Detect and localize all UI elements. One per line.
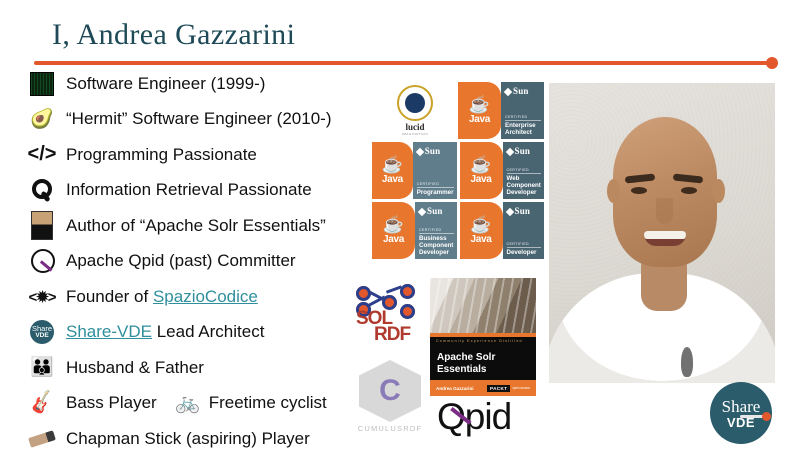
- java-logo-icon: ☕ Java: [458, 82, 501, 139]
- title-end-dot-icon: [766, 57, 778, 69]
- slide-root: I, Andrea Gazzarini Software Engineer (1…: [0, 0, 800, 450]
- sun-logo: Sun: [417, 146, 454, 156]
- list-item-label: Husband & Father: [66, 358, 204, 378]
- sun-certified-badge: ☕ Java Sun CERTIFIED Programmer: [372, 142, 457, 199]
- list-item-label: Apache Qpid (past) Committer: [66, 251, 296, 271]
- sun-certified-badge: ☕ Java Sun CERTIFIED Web Component Devel…: [460, 142, 545, 199]
- tshirt-graphic: [681, 347, 693, 377]
- cert-name: Business Component Developer: [419, 235, 454, 256]
- sun-logo: Sun: [419, 206, 454, 216]
- sun-certified-badge: ☕ Java Sun CERTIFIED Business Component …: [372, 202, 457, 259]
- certification-badge-grid: lucid IMAGINATION ☕ Java Sun CERTIFIED E…: [372, 82, 547, 262]
- cumulusrdf-label: CUMULUSRDF: [348, 424, 432, 433]
- sun-certified-badge: ☕ Java Sun CERTIFIED Developer: [460, 202, 545, 259]
- java-wordmark: Java: [383, 234, 404, 245]
- qpid-logo: Qpid: [437, 398, 537, 444]
- list-item-extra: 🚲 Freetime cyclist: [171, 387, 327, 419]
- cert-name: Developer: [507, 249, 542, 256]
- sun-logo: Sun: [507, 146, 542, 156]
- title-underline: [34, 61, 770, 65]
- solrdf-line2: RDF: [374, 324, 410, 346]
- list-item: Software Engineer (1999-): [22, 66, 372, 102]
- java-logo-icon: ☕ Java: [372, 142, 413, 199]
- book-title: Apache Solr Essentials: [430, 343, 536, 375]
- book-cover-photo: [430, 278, 536, 333]
- cert-name: Programmer: [417, 189, 454, 196]
- page-title: I, Andrea Gazzarini: [52, 18, 295, 52]
- list-item-label: Chapman Stick (aspiring) Player: [66, 429, 310, 449]
- family-icon: 👪: [22, 352, 62, 384]
- spazio-codice-icon: <✹>: [22, 281, 62, 313]
- portrait-photo: [549, 83, 775, 383]
- bass-guitar-icon: 🎸: [19, 383, 66, 424]
- sun-certified-badge: ☕ Java Sun CERTIFIED Enterprise Architec…: [458, 82, 544, 139]
- java-wordmark: Java: [469, 114, 490, 125]
- list-item-label: “Hermit” Software Engineer (2010-): [66, 109, 331, 129]
- cumulusrdf-logo: C CUMULUSRDF: [348, 360, 432, 433]
- sun-logo: Sun: [505, 86, 541, 96]
- share-vde-dot-icon: [762, 412, 771, 421]
- packt-tagline: open source: [512, 386, 530, 390]
- packt-logo: PACKT: [487, 385, 510, 392]
- bicycle-icon: 🚲: [171, 387, 205, 419]
- sun-logo: Sun: [507, 206, 542, 216]
- java-wordmark: Java: [470, 174, 491, 185]
- list-item-label: Lead Architect: [152, 322, 264, 341]
- share-vde-logo: Share VDE: [710, 382, 772, 444]
- book-author: Andrea Gazzarini: [436, 386, 474, 391]
- list-item: Author of “Apache Solr Essentials”: [22, 208, 372, 244]
- list-item: 👪 Husband & Father: [22, 350, 372, 386]
- matrix-screen-icon: [22, 68, 62, 100]
- book-cover-icon: [22, 210, 62, 242]
- badge-row: lucid IMAGINATION ☕ Java Sun CERTIFIED E…: [372, 82, 547, 139]
- book-ribbon-label: Community Experience Distilled: [430, 337, 536, 343]
- share-vde-line1: Share: [722, 398, 761, 415]
- cert-label: CERTIFIED: [507, 168, 542, 174]
- list-item: ShareVDE Share-VDE Lead Architect: [22, 315, 372, 351]
- cert-name: Enterprise Architect: [505, 122, 541, 136]
- list-item: </> Programming Passionate: [22, 137, 372, 173]
- lucid-seal-icon: [397, 85, 433, 121]
- java-logo-icon: ☕ Java: [460, 142, 503, 199]
- cert-label: CERTIFIED: [417, 182, 454, 188]
- cert-name: Web Component Developer: [507, 175, 542, 196]
- cert-label: CERTIFIED: [507, 242, 542, 248]
- cert-label: CERTIFIED: [505, 115, 541, 121]
- solrdf-logo: SOL RDF: [348, 282, 426, 354]
- java-logo-icon: ☕ Java: [372, 202, 415, 259]
- cert-label: CERTIFIED: [419, 228, 454, 234]
- list-item: 🎸 Bass Player 🚲 Freetime cyclist: [22, 386, 372, 422]
- badge-row: ☕ Java Sun CERTIFIED Programmer ☕ Java: [372, 142, 547, 199]
- spaziocodice-link[interactable]: SpazioCodice: [153, 287, 258, 306]
- list-item-label: Software Engineer (1999-): [66, 74, 265, 94]
- lucid-certified-developer-badge: lucid IMAGINATION: [372, 82, 458, 139]
- book-publisher: PACKT open source: [487, 385, 530, 392]
- lucid-brand-label: lucid: [405, 122, 424, 132]
- qpid-q-icon: [22, 245, 62, 277]
- list-item-label: Information Retrieval Passionate: [66, 180, 312, 200]
- qpid-wordmark: Qpid: [437, 396, 511, 437]
- bio-bullet-list: Software Engineer (1999-) 🥑 “Hermit” Sof…: [22, 66, 372, 457]
- code-tags-icon: </>: [22, 139, 62, 171]
- list-item-label: Programming Passionate: [66, 145, 257, 165]
- cumulus-letter: C: [379, 376, 401, 406]
- list-item: Information Retrieval Passionate: [22, 173, 372, 209]
- book-cover-apache-solr-essentials: Community Experience Distilled Apache So…: [430, 278, 536, 396]
- hexagon-icon: C: [359, 360, 421, 422]
- java-wordmark: Java: [382, 174, 403, 185]
- list-item-extra-label: Freetime cyclist: [209, 393, 327, 413]
- share-vde-link[interactable]: Share-VDE: [66, 322, 152, 341]
- hermit-crab-icon: 🥑: [22, 103, 62, 135]
- lucid-brand-sub: IMAGINATION: [402, 132, 428, 136]
- java-wordmark: Java: [470, 234, 491, 245]
- list-item-label: Bass Player: [66, 393, 157, 413]
- share-vde-small-icon: ShareVDE: [22, 316, 62, 348]
- list-item-label: Founder of: [66, 287, 153, 306]
- list-item: 🥑 “Hermit” Software Engineer (2010-): [22, 102, 372, 138]
- list-item: Apache Qpid (past) Committer: [22, 244, 372, 280]
- java-logo-icon: ☕ Java: [460, 202, 503, 259]
- badge-row: ☕ Java Sun CERTIFIED Business Component …: [372, 202, 547, 259]
- list-item: Chapman Stick (aspiring) Player: [22, 421, 372, 457]
- list-item-label: Author of “Apache Solr Essentials”: [66, 216, 326, 236]
- magnifier-icon: [22, 174, 62, 206]
- list-item: <✹> Founder of SpazioCodice: [22, 279, 372, 315]
- book-footer: Andrea Gazzarini PACKT open source: [430, 380, 536, 396]
